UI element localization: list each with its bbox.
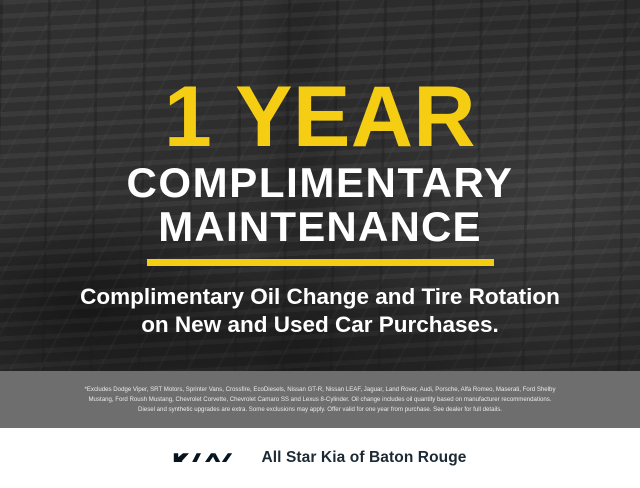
dealer-name: All Star Kia of Baton Rouge — [261, 449, 466, 467]
disclaimer-line-1: *Excludes Dodge Viper, SRT Motors, Sprin… — [84, 385, 555, 395]
hero-content: 1 YEAR COMPLIMENTARY MAINTENANCE Complim… — [0, 0, 640, 371]
disclaimer-line-3: Diesel and synthetic upgrades are extra.… — [138, 405, 502, 415]
promo-description: Complimentary Oil Change and Tire Rotati… — [80, 283, 560, 339]
subheadline-line-2: MAINTENANCE — [126, 205, 513, 249]
subheadline-line-1: COMPLIMENTARY — [126, 159, 513, 206]
kia-logo-icon — [173, 448, 245, 468]
subheadline: COMPLIMENTARY MAINTENANCE — [126, 161, 513, 248]
promotional-ad: 1 YEAR COMPLIMENTARY MAINTENANCE Complim… — [0, 0, 640, 488]
disclaimer-line-2: Mustang, Ford Roush Mustang, Chevrolet C… — [88, 395, 551, 405]
promo-line-2: on New and Used Car Purchases. — [80, 311, 560, 339]
hero-section: 1 YEAR COMPLIMENTARY MAINTENANCE Complim… — [0, 0, 640, 371]
footer: All Star Kia of Baton Rouge — [0, 428, 640, 488]
disclaimer-band: *Excludes Dodge Viper, SRT Motors, Sprin… — [0, 371, 640, 428]
promo-line-1: Complimentary Oil Change and Tire Rotati… — [80, 284, 560, 309]
headline: 1 YEAR — [164, 78, 476, 157]
yellow-divider-rule — [147, 259, 494, 266]
